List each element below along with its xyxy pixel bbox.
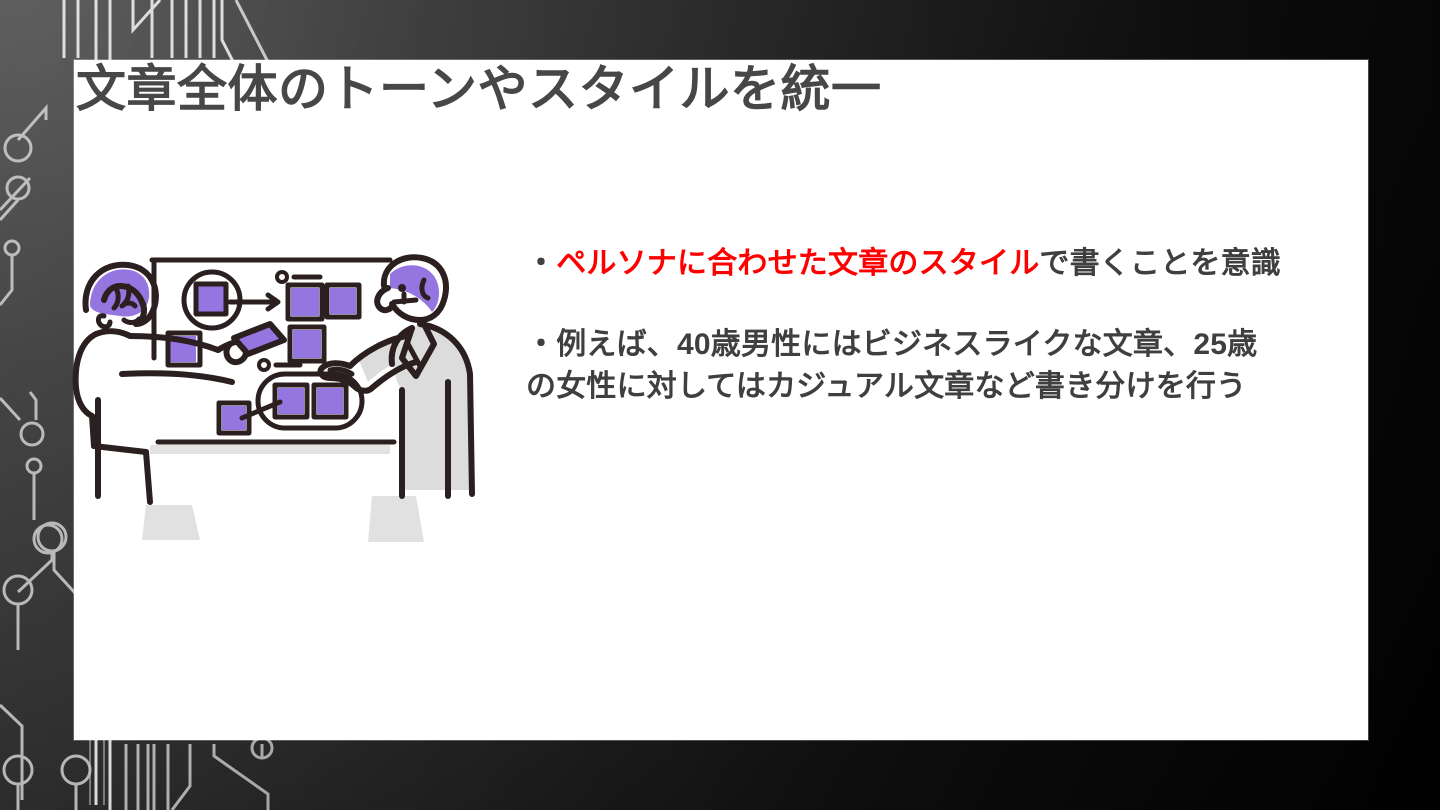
bullet-1-marker: ・	[526, 247, 556, 280]
slide-title: 文章全体のトーンやスタイルを統一	[76, 62, 1076, 117]
bullet-2: ・例えば、40歳男性にはビジネスライクな文章、25歳の女性に対してはカジュアル文…	[526, 324, 1286, 409]
bullet-2-rest: 例えば、40歳男性にはビジネスライクな文章、25歳の女性に対してはカジュアル文章…	[526, 328, 1257, 404]
whiteboard-meeting-illustration	[72, 240, 482, 570]
bullet-1-highlight: ペルソナに合わせた文章のスタイル	[556, 247, 1039, 280]
body-text-block: ・ペルソナに合わせた文章のスタイルで書くことを意識 ・例えば、40歳男性にはビジ…	[526, 243, 1286, 409]
bullet-2-marker: ・	[526, 328, 556, 361]
bullet-1-rest: で書くことを意識	[1039, 247, 1281, 280]
presentation-slide: 文章全体のトーンやスタイルを統一	[0, 0, 1440, 810]
bullet-1: ・ペルソナに合わせた文章のスタイルで書くことを意識	[526, 243, 1286, 286]
